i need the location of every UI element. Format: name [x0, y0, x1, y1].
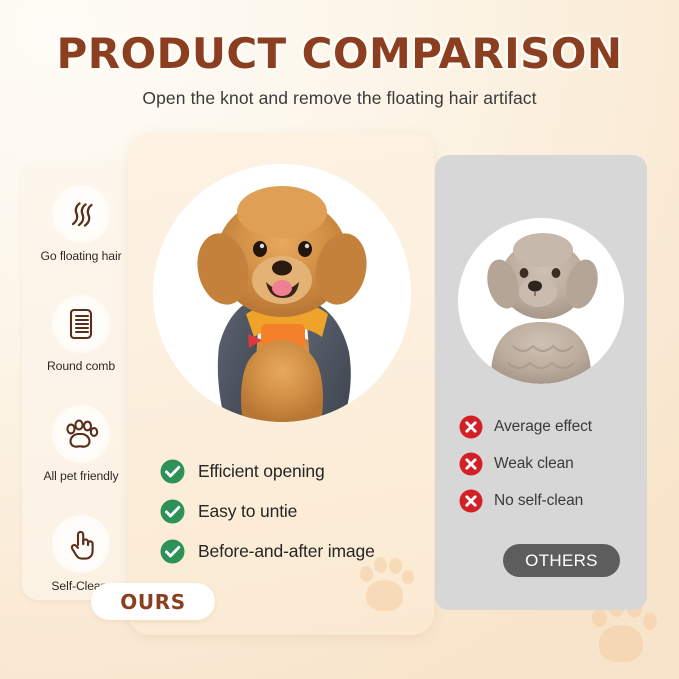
cross-circle-icon	[459, 489, 483, 513]
list-item: Easy to untie	[160, 491, 420, 531]
feature-item-self-clean: Self-Clean.	[22, 515, 140, 593]
ours-badge: OURS	[91, 583, 215, 620]
ours-benefit-list: Efficient opening Easy to untie	[160, 451, 420, 571]
drawback-label: Weak clean	[494, 455, 574, 473]
feature-item-round-comb: Round comb	[22, 295, 140, 373]
list-item: Before-and-after image	[160, 531, 420, 571]
tap-hand-icon	[52, 515, 110, 573]
others-badge-label: OTHERS	[525, 551, 598, 571]
cross-circle-icon	[459, 415, 483, 439]
feature-sidebar: Go floating hair Round comb	[22, 163, 140, 600]
list-item: Efficient opening	[160, 451, 420, 491]
poster-header: PRODUCT COMPARISON Open the knot and rem…	[0, 32, 679, 109]
feature-label: Round comb	[22, 359, 140, 373]
floating-hair-icon	[52, 185, 110, 243]
others-product-photo	[458, 218, 624, 384]
page-subtitle: Open the knot and remove the floating ha…	[0, 88, 679, 109]
paw-icon	[52, 405, 110, 463]
feature-item-go-floating-hair: Go floating hair	[22, 185, 140, 263]
list-item: Average effect	[459, 408, 639, 445]
comb-icon	[52, 295, 110, 353]
ours-product-photo	[153, 164, 411, 422]
drawback-label: Average effect	[494, 418, 592, 436]
check-circle-icon	[160, 459, 185, 484]
feature-label: Go floating hair	[22, 249, 140, 263]
benefit-label: Easy to untie	[198, 501, 297, 522]
product-comparison-poster: PRODUCT COMPARISON Open the knot and rem…	[0, 0, 679, 679]
benefit-label: Before-and-after image	[198, 541, 375, 562]
list-item: Weak clean	[459, 445, 639, 482]
list-item: No self-clean	[459, 482, 639, 519]
feature-item-all-pet-friendly: All pet friendly	[22, 405, 140, 483]
benefit-label: Efficient opening	[198, 461, 325, 482]
ours-badge-label: OURS	[120, 590, 185, 614]
ours-card: Efficient opening Easy to untie	[128, 133, 434, 635]
others-drawback-list: Average effect Weak clean	[459, 408, 639, 519]
others-card: Average effect Weak clean	[435, 155, 647, 610]
feature-label: All pet friendly	[22, 469, 140, 483]
page-title: PRODUCT COMPARISON	[0, 32, 679, 76]
drawback-label: No self-clean	[494, 492, 583, 510]
check-circle-icon	[160, 499, 185, 524]
others-badge: OTHERS	[503, 544, 620, 577]
cross-circle-icon	[459, 452, 483, 476]
check-circle-icon	[160, 539, 185, 564]
